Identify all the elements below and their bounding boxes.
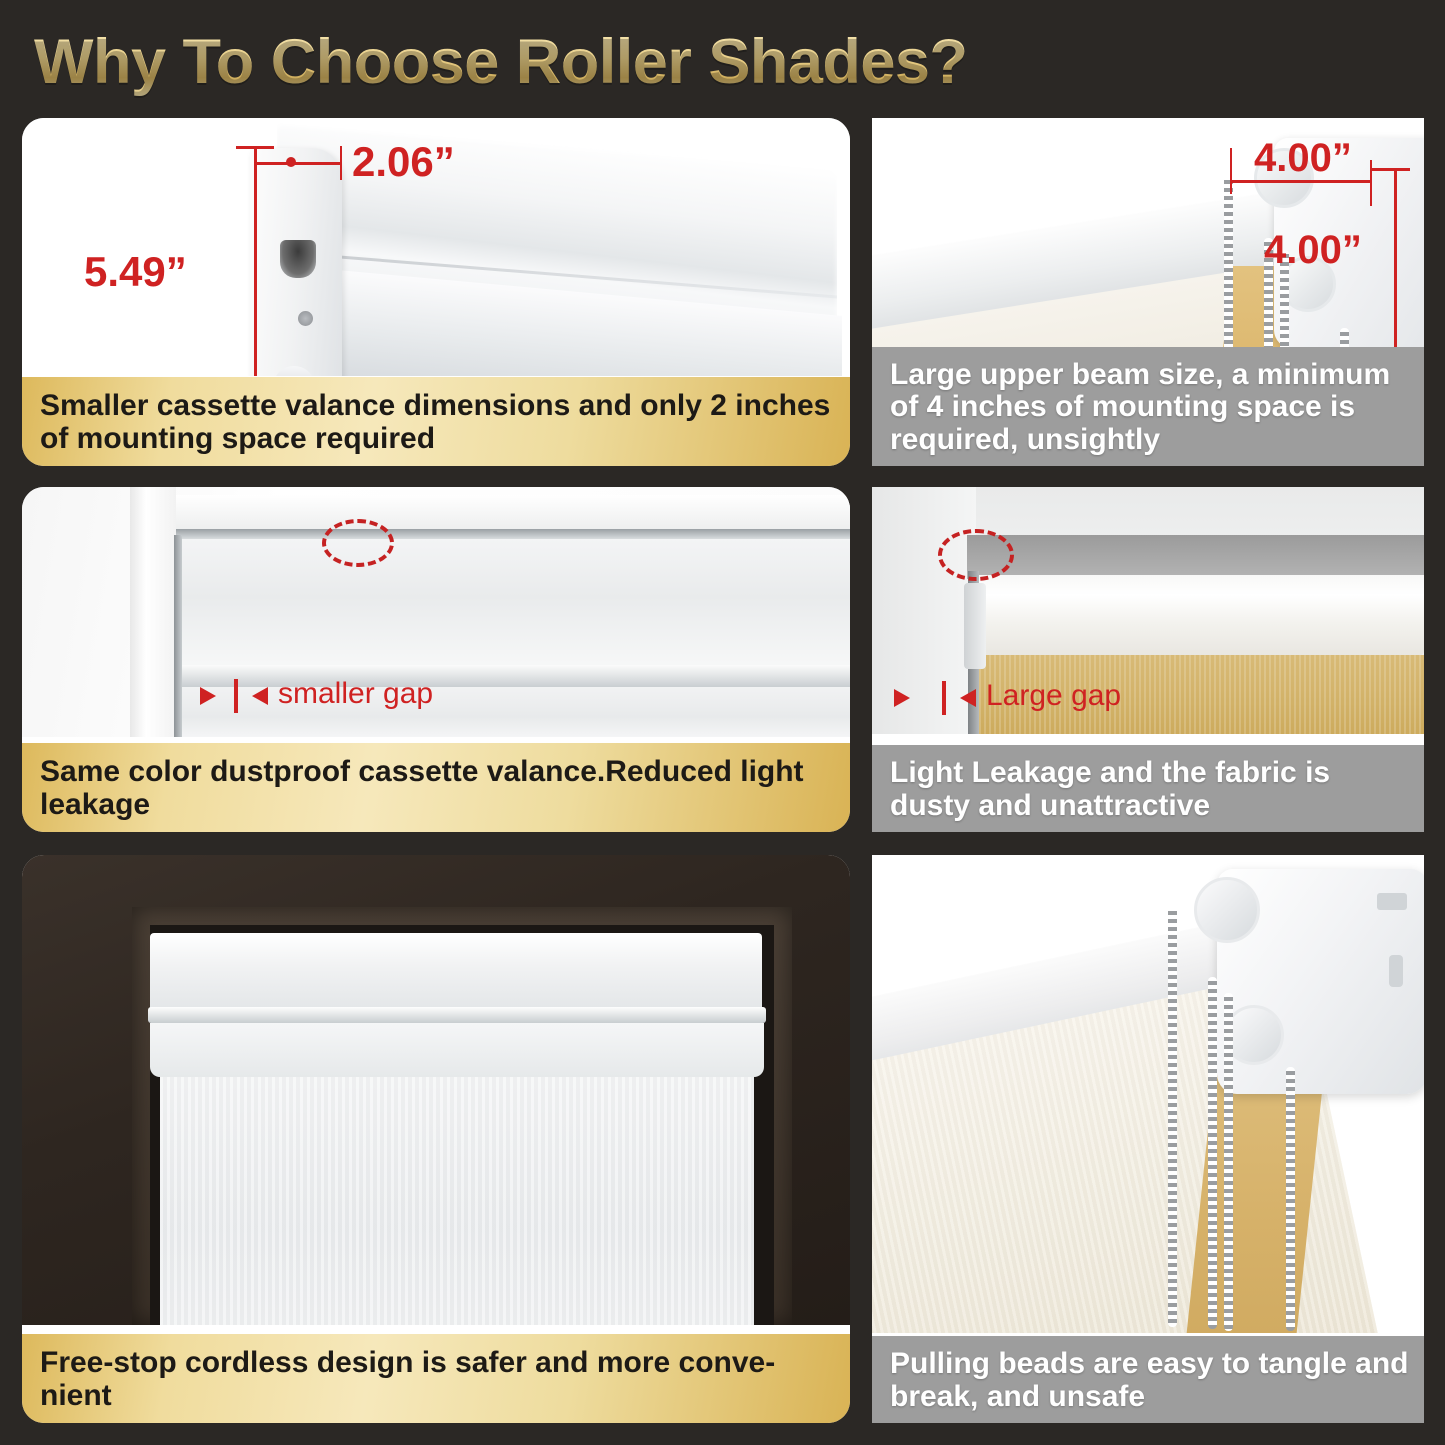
smaller-gap-label: smaller gap (278, 677, 433, 711)
dim-tick-400h-left (1230, 148, 1232, 194)
panel-cordless-design: Free-stop cordless design is safer and m… (22, 855, 850, 1423)
dimension-label-206: 2.06” (352, 138, 455, 186)
panel-caption-pulling-beads: Pulling beads are easy to tangle and bre… (872, 1336, 1424, 1423)
valance-knob-icon (274, 366, 314, 376)
cassette-valance (150, 933, 762, 1015)
valance-slot-icon (280, 240, 316, 278)
header-bar: Why To Choose Roller Shades? (0, 0, 1445, 118)
highlight-circle-icon (322, 519, 394, 567)
panel-caption-light-leakage: Light Leakage and the fabric is dusty an… (872, 745, 1424, 832)
cordless-window-photo (22, 855, 850, 1325)
valance-screw-icon (298, 311, 313, 326)
window-frame-left (130, 487, 176, 737)
valance-bar (148, 1007, 766, 1023)
mounting-clip (964, 583, 986, 669)
light-leakage-photo: Large gap (872, 487, 1424, 734)
bead-chain-3 (1224, 993, 1233, 1331)
dimension-label-549: 5.49” (84, 248, 187, 296)
dim-tick-400v-top (1372, 168, 1410, 171)
panel-valance-dimensions: 2.06” 5.49” Smaller cassette valance dim… (22, 118, 850, 466)
window-head-trim (176, 495, 850, 529)
gap-arrow-left-icon (960, 689, 976, 707)
panel-large-upper-beam: 4.00” 4.00” Large upper beam size, a min… (872, 118, 1424, 466)
highlight-circle-icon (938, 529, 1014, 581)
dim-line-549 (254, 146, 257, 376)
large-beam-photo: 4.00” 4.00” (872, 118, 1424, 363)
gap-arrow-left-icon (252, 687, 268, 705)
page-title: Why To Choose Roller Shades? (34, 26, 967, 98)
panel-caption-valance-dimensions: Smaller cassette valance dimensions and … (22, 377, 850, 466)
gap-marker-line (234, 679, 238, 713)
bracket-notch-side (1389, 955, 1403, 987)
shadow-band (967, 535, 1424, 579)
valance-end-cap (250, 148, 342, 376)
panel-dustproof-cassette: smaller gap Same color dustproof cassett… (22, 487, 850, 832)
pulling-beads-photo (872, 855, 1424, 1333)
bead-chain-2 (1208, 977, 1217, 1329)
bead-chain-1 (1168, 907, 1177, 1327)
valance-lower (150, 1023, 764, 1077)
large-gap-label: Large gap (986, 679, 1121, 713)
bead-wheel-bottom (1224, 1005, 1284, 1065)
dim-line-206 (254, 162, 342, 165)
dustproof-cassette-photo: smaller gap (22, 487, 850, 737)
gap-arrow-right-icon (894, 689, 910, 707)
valance-product-photo: 2.06” 5.49” (22, 118, 850, 376)
bead-chain-4 (1286, 1067, 1295, 1331)
valance-beam (972, 575, 1424, 655)
panel-caption-large-upper-beam: Large upper beam size, a minimum of 4 in… (872, 347, 1424, 466)
shade-fabric-upper (182, 539, 850, 669)
dim-line-400-vertical (1394, 168, 1397, 350)
gap-arrow-right-icon (200, 687, 216, 705)
panel-light-leakage: Large gap Light Leakage and the fabric i… (872, 487, 1424, 832)
panel-caption-cordless-design: Free-stop cordless design is safer and m… (22, 1334, 850, 1423)
bead-wheel-top (1194, 877, 1260, 943)
panel-pulling-beads: Pulling beads are easy to tangle and bre… (872, 855, 1424, 1423)
dim-tick-400h-right (1370, 160, 1372, 206)
cassette-rail (176, 529, 850, 539)
dim-tick-549-top (236, 146, 274, 149)
bead-chain-1 (1224, 176, 1233, 363)
panel-caption-dustproof-cassette: Same color dustproof cassette valance.Re… (22, 743, 850, 832)
gap-marker-line (942, 681, 946, 715)
shade-fabric (160, 1077, 754, 1325)
dimension-label-400-vertical: 4.00” (1264, 228, 1362, 273)
shade-side-edge (174, 535, 182, 737)
bracket-notch-top (1377, 893, 1407, 910)
dimension-label-400-horizontal: 4.00” (1254, 136, 1352, 181)
